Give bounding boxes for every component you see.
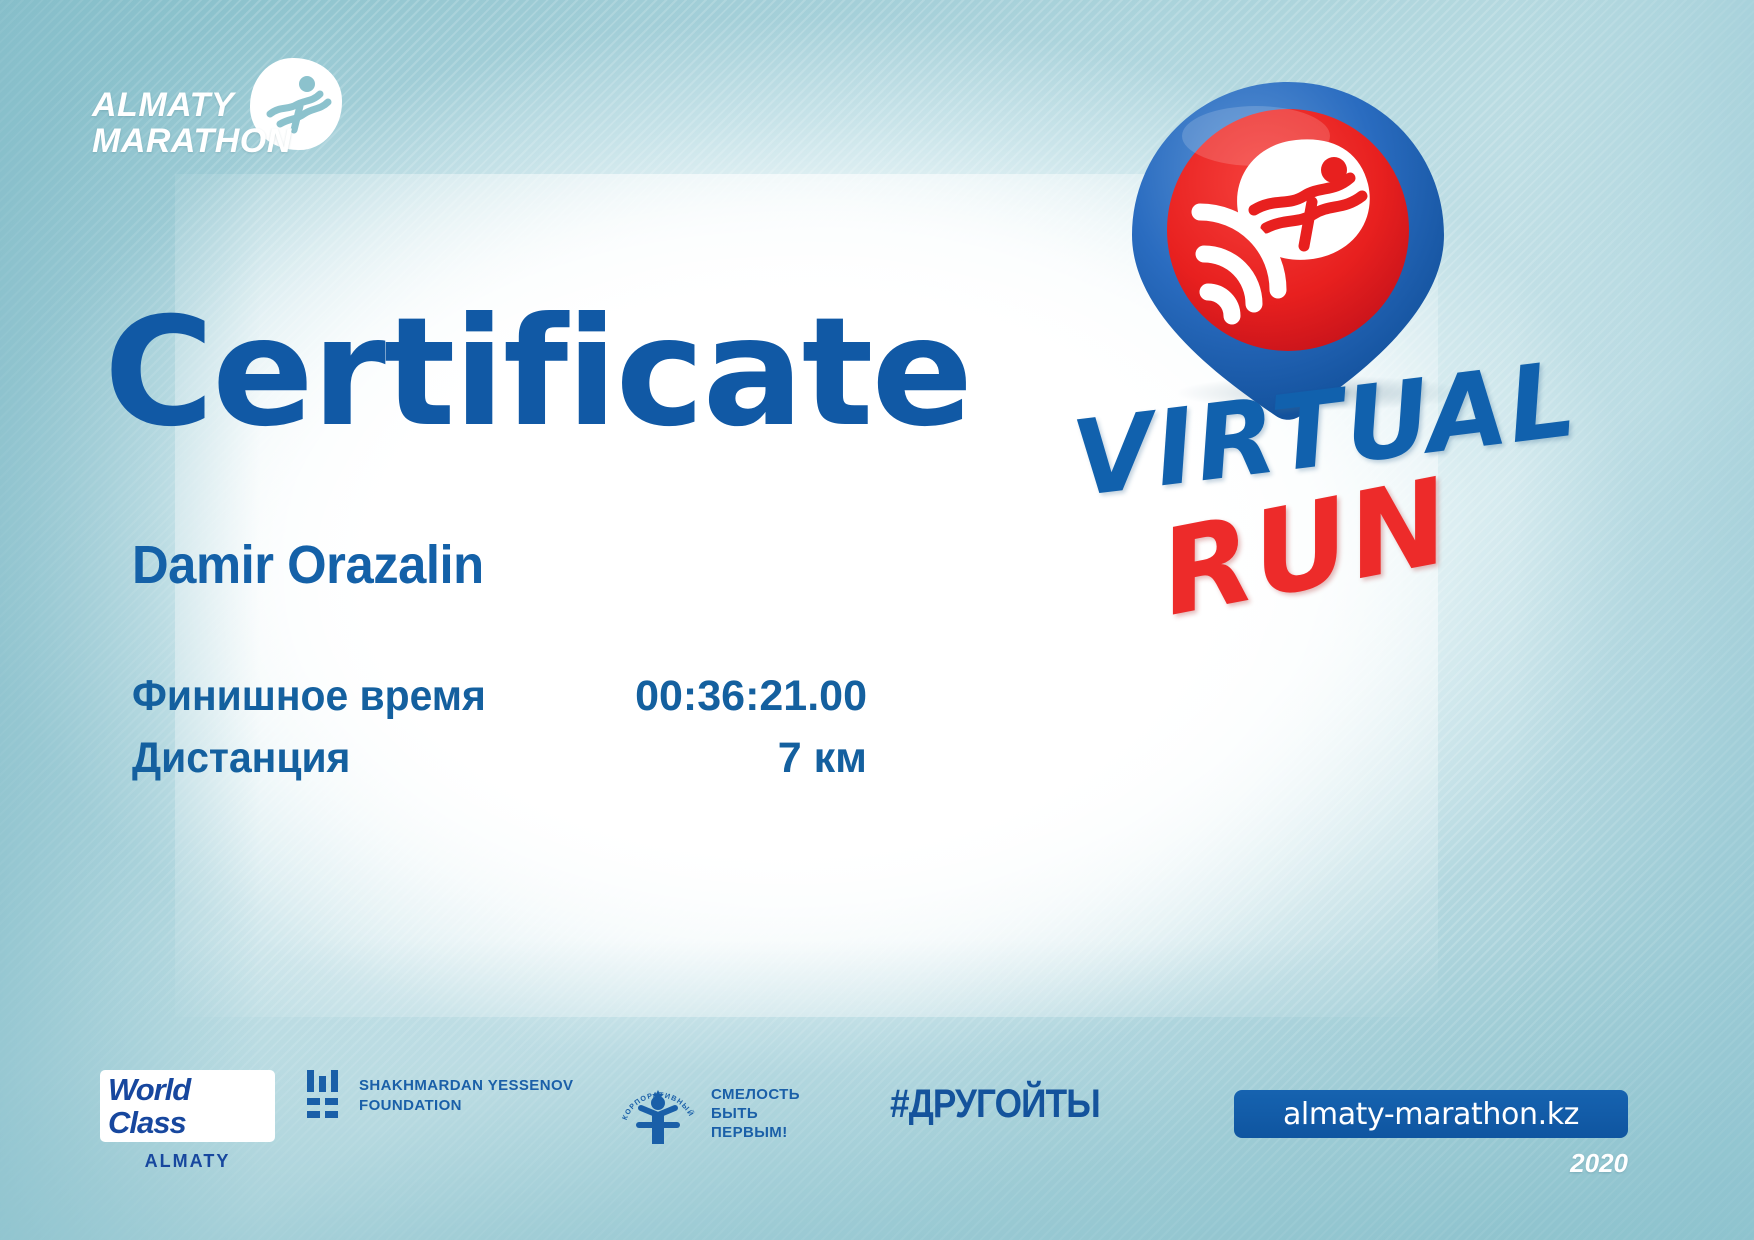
result-label: Дистанция	[132, 734, 350, 783]
smelost-text: СМЕЛОСТЬ БЫТЬ ПЕРВЫМ!	[711, 1085, 800, 1142]
website-button[interactable]: almaty-marathon.kz	[1234, 1090, 1628, 1138]
year-label: 2020	[1234, 1148, 1628, 1179]
smelost-line2: БЫТЬ	[711, 1104, 800, 1123]
result-label: Финишное время	[132, 672, 486, 721]
certificate-canvas: ALMATY MARATHON Certificate Damir Orazal…	[0, 0, 1754, 1240]
sponsor-world-class: World Class ALMATY	[100, 1070, 275, 1172]
campaign-hashtag: #ДРУГОЙТЫ	[890, 1082, 1100, 1127]
page-title: Certificate	[104, 298, 971, 448]
almaty-logo-line2: MARATHON	[92, 122, 292, 161]
website-label: almaty-marathon.kz	[1283, 1097, 1579, 1132]
sponsor-yessenov-foundation: SHAKHMARDAN YESSENOV FOUNDATION	[305, 1070, 595, 1122]
result-value: 7 км	[778, 734, 867, 783]
yessenov-line2: FOUNDATION	[359, 1096, 573, 1116]
athlete-name: Damir Orazalin	[132, 534, 484, 596]
bars-grid-icon	[305, 1070, 345, 1122]
almaty-logo-line1: ALMATY	[92, 86, 234, 125]
result-row-distance: Дистанция 7 км	[132, 734, 867, 796]
yessenov-line1: SHAKHMARDAN YESSENOV	[359, 1076, 573, 1096]
figure-ribbon-icon: КОРПОРАТИВНЫЙ ФОНД	[615, 1070, 701, 1156]
result-value: 00:36:21.00	[635, 672, 867, 721]
yessenov-text: SHAKHMARDAN YESSENOV FOUNDATION	[359, 1076, 573, 1116]
virtual-run-emblem: VIRTUAL RUN	[1068, 58, 1708, 628]
world-class-label: World Class	[108, 1073, 267, 1139]
almaty-marathon-logo: ALMATY MARATHON	[92, 58, 342, 183]
world-class-plate: World Class	[100, 1070, 275, 1142]
world-class-city: ALMATY	[100, 1151, 275, 1172]
smelost-line1: СМЕЛОСТЬ	[711, 1085, 800, 1104]
smelost-line3: ПЕРВЫМ!	[711, 1123, 800, 1142]
results-table: Финишное время 00:36:21.00 Дистанция 7 к…	[132, 672, 867, 796]
result-row-finish-time: Финишное время 00:36:21.00	[132, 672, 867, 734]
sponsor-smelost-fund: КОРПОРАТИВНЫЙ ФОНД СМЕЛОСТЬ БЫТЬ ПЕРВЫМ!	[615, 1070, 845, 1156]
